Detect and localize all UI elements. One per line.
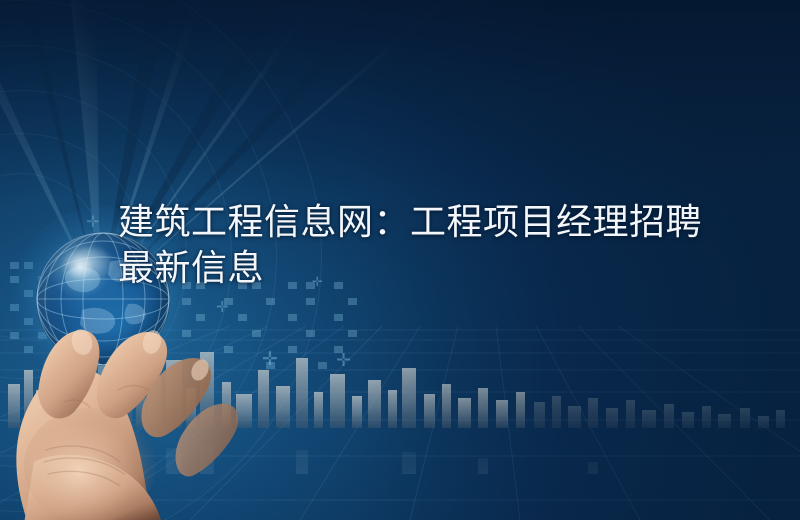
page-title: 建筑工程信息网：工程项目经理招聘最新信息 bbox=[118, 200, 718, 292]
banner-image: ✛ ✛ ✛ ✛ ✛ bbox=[0, 0, 800, 520]
